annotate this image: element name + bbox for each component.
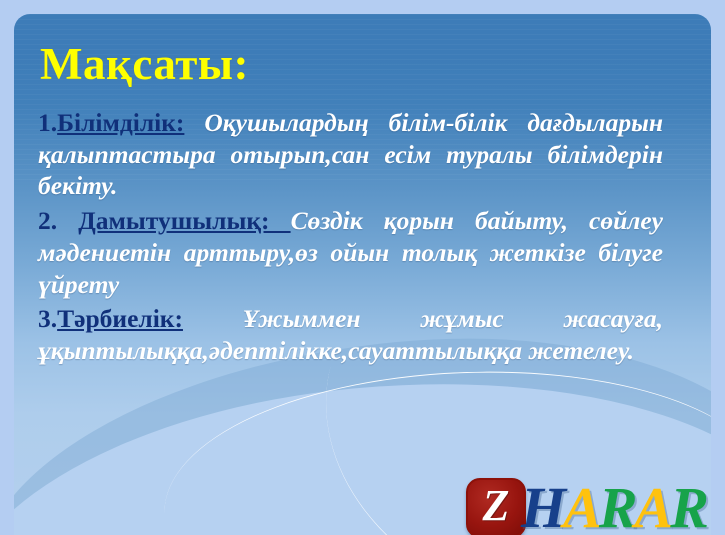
zharar-logo-letter-a1: A [563, 479, 602, 535]
zharar-logo-letter-h: H [521, 479, 566, 535]
objective-item-3: 3.Тәрбиелік: Ұжыммен жұмыс жасауға, ұқып… [38, 303, 663, 366]
objective-item-1: 1.Білімділік: Оқушылардың білім-білік да… [38, 107, 663, 202]
objective-3-label: Тәрбиелік: [57, 304, 183, 333]
zharar-logo-z-letter: Z [483, 484, 510, 528]
objective-1-number: 1. [38, 108, 57, 137]
objective-1-label: Білімділік: [57, 108, 184, 137]
objective-3-number: 3. [38, 304, 57, 333]
zharar-logo-z-tile: Z [466, 478, 526, 535]
slide-content: Мақсаты: 1.Білімділік: Оқушылардың білім… [14, 14, 711, 535]
zharar-logo-letter-r2: R [670, 479, 709, 535]
objectives-list: 1.Білімділік: Оқушылардың білім-білік да… [38, 107, 663, 371]
objective-item-2: 2. Дамытушылық: Сөздік қорын байыту, сөй… [38, 205, 663, 300]
slide-panel: Мақсаты: 1.Білімділік: Оқушылардың білім… [14, 14, 711, 535]
page-title: Мақсаты: [40, 42, 249, 87]
zharar-logo: Z H A R A R [466, 476, 709, 535]
zharar-logo-letter-a2: A [635, 479, 674, 535]
slide-canvas: Мақсаты: 1.Білімділік: Оқушылардың білім… [0, 0, 725, 535]
objective-2-label: Дамытушылық: [78, 206, 290, 235]
objective-2-number: 2. [38, 206, 78, 235]
zharar-logo-letter-r1: R [599, 479, 638, 535]
